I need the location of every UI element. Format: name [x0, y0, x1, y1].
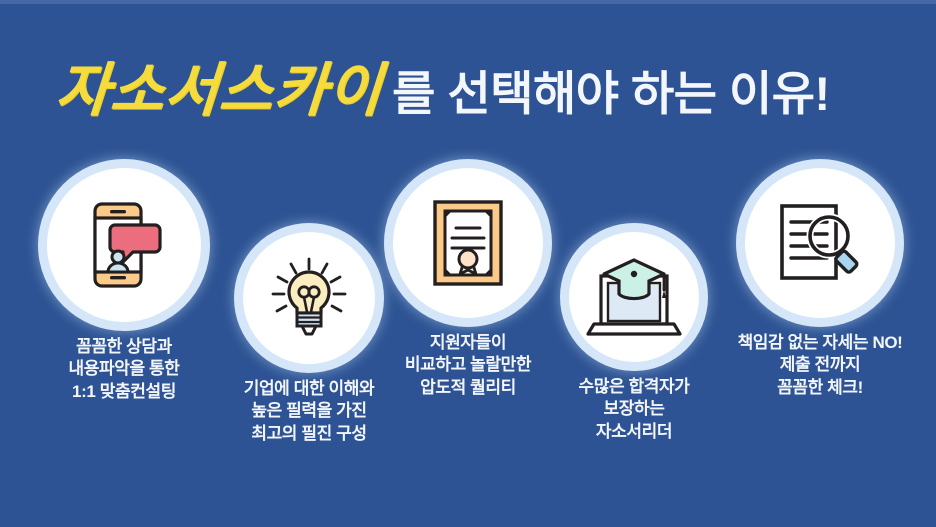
- caption-line: 자소서리더: [534, 421, 734, 443]
- caption-line: 압도적 퀄리티: [380, 377, 556, 399]
- top-accent-strip: [0, 0, 936, 4]
- feature-caption-4: 수많은 합격자가 보장하는 자소서리더: [534, 376, 734, 443]
- caption-line: 책임감 없는 자세는 NO!: [712, 332, 928, 354]
- brand-name: 자소서스카이: [54, 62, 384, 120]
- document-magnifier-icon: [774, 200, 866, 286]
- feature-item-3: 지원자들이 비교하고 놀랄만한 압도적 퀄리티: [380, 168, 556, 399]
- headline-subtext: 를 선택해야 하는 이유!: [392, 70, 830, 117]
- feature-item-4: 수많은 합격자가 보장하는 자소서리더: [534, 232, 734, 443]
- feature-caption-1: 꼼꼼한 상담과 내용파악을 통한 1:1 맞춤컨설팅: [24, 336, 224, 403]
- caption-line: 1:1 맞춤컨설팅: [24, 381, 224, 403]
- feature-icon-circle-3: [393, 168, 543, 318]
- page-title: 자소서스카이 를 선택해야 하는 이유!: [56, 48, 880, 120]
- caption-line: 꼼꼼한 체크!: [712, 377, 928, 399]
- feature-item-5: 책임감 없는 자세는 NO! 제출 전까지 꼼꼼한 체크!: [712, 168, 928, 399]
- caption-line: 비교하고 놀랄만한: [380, 354, 556, 376]
- feature-item-1: 꼼꼼한 상담과 내용파악을 통한 1:1 맞춤컨설팅: [24, 168, 224, 403]
- caption-line: 높은 필력을 가진: [204, 400, 414, 422]
- caption-line: 수많은 합격자가: [534, 376, 734, 398]
- lightbulb-idea-icon: [267, 256, 351, 340]
- feature-caption-5: 책임감 없는 자세는 NO! 제출 전까지 꼼꼼한 체크!: [712, 332, 928, 399]
- caption-line: 보장하는: [534, 398, 734, 420]
- caption-line: 최고의 필진 구성: [204, 423, 414, 445]
- feature-icon-circle-2: [243, 232, 375, 364]
- laptop-graduation-cap-icon: [586, 254, 682, 340]
- certificate-award-icon: [431, 198, 505, 288]
- caption-line: 꼼꼼한 상담과: [24, 336, 224, 358]
- caption-line: 내용파악을 통한: [24, 358, 224, 380]
- caption-line: 지원자들이: [380, 332, 556, 354]
- feature-icon-circle-4: [569, 232, 699, 362]
- promo-banner: 자소서스카이 를 선택해야 하는 이유! 꼼꼼한 상담과 내용파악을 통한 1:…: [0, 0, 936, 527]
- feature-icon-circle-5: [745, 168, 895, 318]
- smartphone-chat-icon: [81, 200, 167, 290]
- caption-line: 제출 전까지: [712, 354, 928, 376]
- feature-icon-circle-1: [47, 168, 201, 322]
- feature-caption-3: 지원자들이 비교하고 놀랄만한 압도적 퀄리티: [380, 332, 556, 399]
